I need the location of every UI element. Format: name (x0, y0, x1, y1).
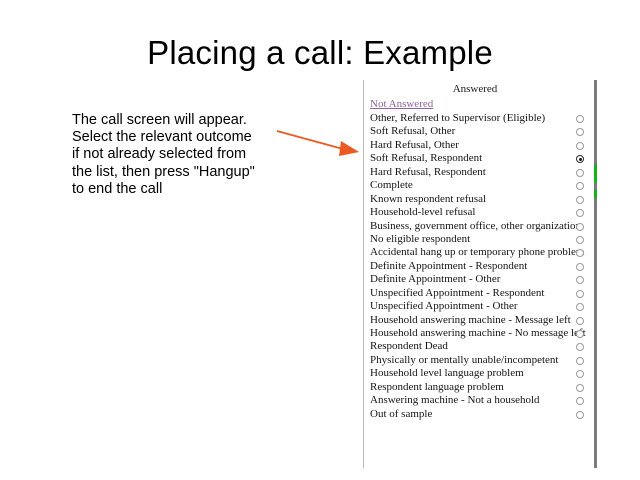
outcome-label: Unspecified Appointment - Respondent (370, 287, 544, 300)
outcome-row[interactable]: No eligible respondent (364, 233, 592, 246)
outcome-label: Out of sample (370, 408, 432, 421)
outcome-row[interactable]: Household answering machine - Message le… (364, 314, 592, 327)
outcome-label: Accidental hang up or temporary phone pr… (370, 246, 584, 259)
outcome-radio-button[interactable] (576, 223, 584, 231)
not-answered-link[interactable]: Not Answered (370, 98, 433, 110)
outcome-row[interactable]: Respondent language problem (364, 381, 592, 394)
outcome-row[interactable]: Soft Refusal, Respondent (364, 152, 592, 165)
outcome-radio-button[interactable] (576, 411, 584, 419)
outcome-radio-button[interactable] (576, 290, 584, 298)
outcome-row[interactable]: Out of sample (364, 408, 592, 421)
pointer-arrow-icon (275, 126, 365, 160)
outcome-row[interactable]: Unspecified Appointment - Respondent (364, 287, 592, 300)
outcome-radio-button[interactable] (576, 128, 584, 136)
caption-line: The call screen will appear. (72, 112, 287, 129)
panel-scrollbar-track[interactable] (594, 80, 597, 468)
outcome-label: Other, Referred to Supervisor (Eligible) (370, 112, 545, 125)
panel-scrollbar-thumb[interactable] (594, 165, 597, 183)
outcome-radio-button[interactable] (576, 142, 584, 150)
outcome-radio-button[interactable] (576, 209, 584, 217)
outcome-label: Household-level refusal (370, 206, 475, 219)
outcome-label: Complete (370, 179, 413, 192)
outcome-row[interactable]: Household answering machine - No message… (364, 327, 592, 340)
outcome-label: Hard Refusal, Other (370, 139, 459, 152)
outcome-label: Respondent Dead (370, 340, 448, 353)
outcome-radio-button[interactable] (576, 182, 584, 190)
outcome-row[interactable]: Respondent Dead (364, 340, 592, 353)
panel-scrollbar-thumb-lower[interactable] (594, 190, 597, 198)
outcome-row[interactable]: Hard Refusal, Other (364, 139, 592, 152)
outcome-radio-button[interactable] (576, 384, 584, 392)
outcome-radio-list: Other, Referred to Supervisor (Eligible)… (364, 112, 592, 421)
outcome-label: No eligible respondent (370, 233, 470, 246)
outcome-row[interactable]: Unspecified Appointment - Other (364, 300, 592, 313)
outcome-radio-button[interactable] (576, 196, 584, 204)
outcome-row[interactable]: Answering machine - Not a household (364, 394, 592, 407)
outcome-radio-button[interactable] (576, 263, 584, 271)
outcome-label: Unspecified Appointment - Other (370, 300, 518, 313)
outcome-label: Known respondent refusal (370, 193, 486, 206)
outcome-row[interactable]: Accidental hang up or temporary phone pr… (364, 246, 592, 259)
caption-line: if not already selected from (72, 146, 287, 163)
caption-line: to end the call (72, 181, 287, 198)
outcome-label: Business, government office, other organ… (370, 220, 581, 233)
outcome-row[interactable]: Physically or mentally unable/incompeten… (364, 354, 592, 367)
instruction-caption: The call screen will appear. Select the … (72, 112, 287, 198)
outcome-row[interactable]: Household-level refusal (364, 206, 592, 219)
outcome-row[interactable]: Complete (364, 179, 592, 192)
outcome-row[interactable]: Known respondent refusal (364, 193, 592, 206)
outcome-label: Respondent language problem (370, 381, 504, 394)
outcome-row[interactable]: Household level language problem (364, 367, 592, 380)
outcome-radio-button[interactable] (576, 236, 584, 244)
outcome-row[interactable]: Business, government office, other organ… (364, 220, 592, 233)
outcome-row[interactable]: Soft Refusal, Other (364, 125, 592, 138)
outcome-label: Household answering machine - Message le… (370, 314, 571, 327)
outcome-row[interactable]: Definite Appointment - Respondent (364, 260, 592, 273)
outcome-radio-button[interactable] (576, 397, 584, 405)
outcome-row[interactable]: Other, Referred to Supervisor (Eligible) (364, 112, 592, 125)
outcome-radio-button[interactable] (576, 343, 584, 351)
outcome-row[interactable]: Definite Appointment - Other (364, 273, 592, 286)
outcome-label: Hard Refusal, Respondent (370, 166, 486, 179)
outcome-radio-button[interactable] (576, 303, 584, 311)
outcome-label: Answering machine - Not a household (370, 394, 540, 407)
caption-line: Select the relevant outcome (72, 129, 287, 146)
outcome-radio-button[interactable] (576, 357, 584, 365)
answered-section-header: Answered (364, 83, 586, 95)
outcome-row[interactable]: Hard Refusal, Respondent (364, 166, 592, 179)
outcome-label: Physically or mentally unable/incompeten… (370, 354, 558, 367)
outcome-radio-button[interactable] (576, 169, 584, 177)
outcome-label: Household level language problem (370, 367, 524, 380)
outcome-radio-button[interactable] (576, 276, 584, 284)
outcome-label: Soft Refusal, Other (370, 125, 455, 138)
outcome-radio-button[interactable] (576, 115, 584, 123)
call-screen-panel: Answered Not Answered Other, Referred to… (363, 80, 597, 468)
outcome-radio-button[interactable] (576, 370, 584, 378)
outcome-radio-button[interactable] (576, 330, 584, 338)
outcome-label: Definite Appointment - Respondent (370, 260, 527, 273)
pointer-arrow (275, 126, 365, 160)
outcome-label: Soft Refusal, Respondent (370, 152, 482, 165)
outcome-label: Household answering machine - No message… (370, 327, 586, 340)
outcome-label: Definite Appointment - Other (370, 273, 500, 286)
outcome-radio-button[interactable] (576, 155, 584, 163)
page-title: Placing a call: Example (0, 34, 640, 72)
outcome-radio-button[interactable] (576, 317, 584, 325)
caption-line: the list, then press "Hangup" (72, 164, 287, 181)
